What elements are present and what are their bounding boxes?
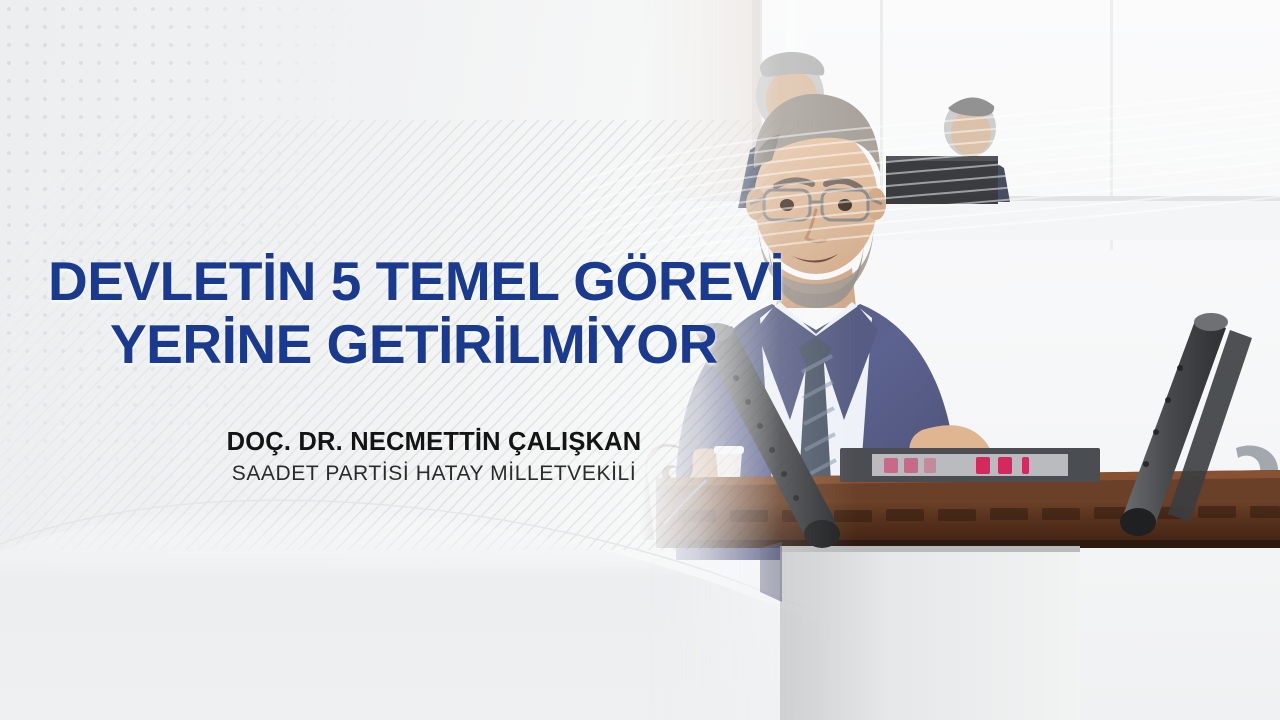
person-name: DOÇ. DR. NECMETTİN ÇALIŞKAN bbox=[48, 428, 820, 457]
headline-line-2: YERİNE GETİRİLMİYOR bbox=[110, 316, 808, 373]
headline-line-1: DEVLETİN 5 TEMEL GÖREVİ bbox=[48, 253, 808, 310]
headline: DEVLETİN 5 TEMEL GÖREVİ YERİNE GETİRİLMİ… bbox=[48, 253, 808, 373]
led-timer-display bbox=[840, 448, 1100, 482]
speaker-identification: DOÇ. DR. NECMETTİN ÇALIŞKAN SAADET PARTİ… bbox=[48, 428, 820, 486]
person-role: SAADET PARTİSİ HATAY MİLLETVEKİLİ bbox=[48, 462, 820, 486]
broadcast-banner: DEVLETİN 5 TEMEL GÖREVİ YERİNE GETİRİLMİ… bbox=[0, 0, 1280, 720]
